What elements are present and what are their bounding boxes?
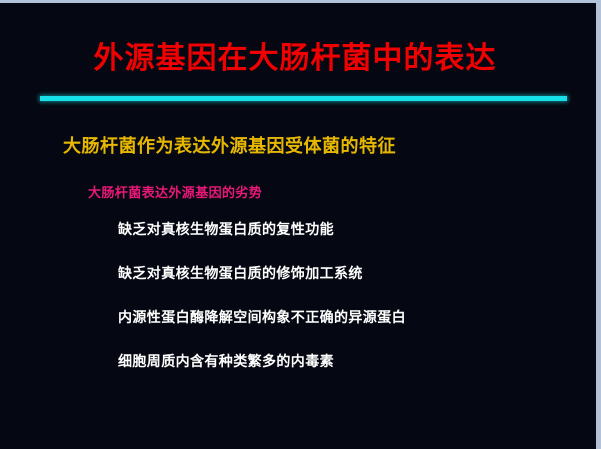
window-top-edge-strip bbox=[0, 0, 601, 3]
bullet-list: 缺乏对真核生物蛋白质的复性功能 缺乏对真核生物蛋白质的修饰加工系统 内源性蛋白酶… bbox=[118, 221, 558, 397]
slide-title: 外源基因在大肠杆菌中的表达 bbox=[0, 39, 590, 79]
section-heading-secondary: 大肠杆菌表达外源基因的劣势 bbox=[88, 182, 262, 201]
window-right-edge-strip bbox=[596, 0, 601, 449]
title-divider-rule bbox=[40, 96, 567, 101]
list-item: 缺乏对真核生物蛋白质的修饰加工系统 bbox=[118, 265, 558, 283]
list-item: 细胞周质内含有种类繁多的内毒素 bbox=[118, 353, 558, 371]
list-item: 内源性蛋白酶降解空间构象不正确的异源蛋白 bbox=[118, 309, 558, 327]
list-item: 缺乏对真核生物蛋白质的复性功能 bbox=[118, 221, 558, 239]
presentation-slide: 外源基因在大肠杆菌中的表达 大肠杆菌作为表达外源基因受体菌的特征 大肠杆菌表达外… bbox=[0, 0, 601, 449]
section-heading-primary: 大肠杆菌作为表达外源基因受体菌的特征 bbox=[63, 132, 396, 158]
